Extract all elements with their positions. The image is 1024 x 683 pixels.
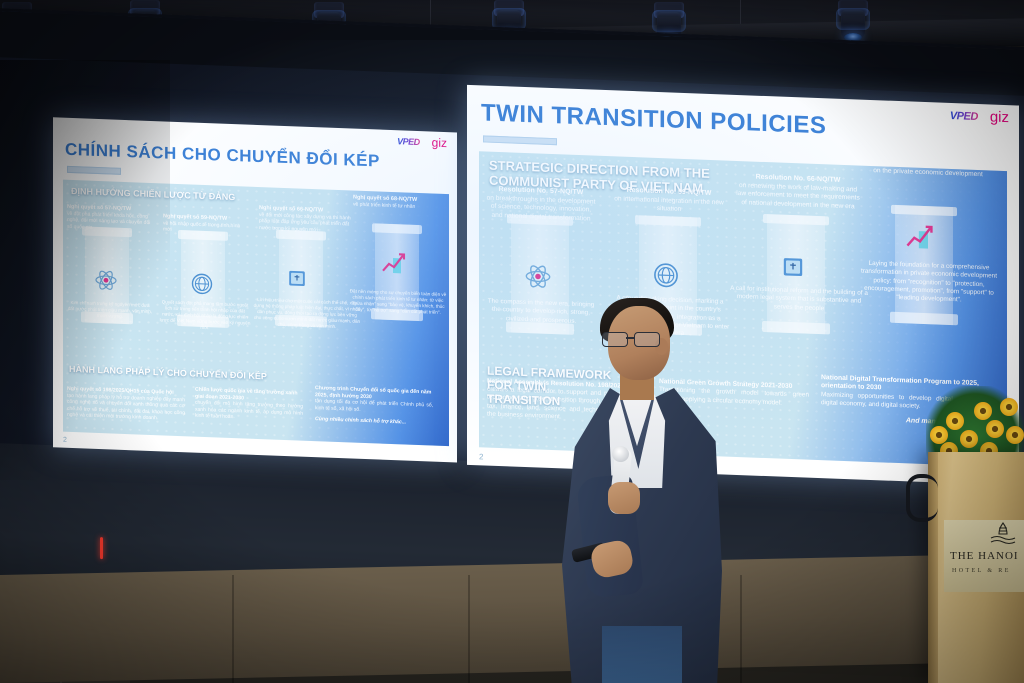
slide-logos-right: VPED giz [950,107,1009,126]
card-subtitle: on renewing the work of law-making and l… [735,182,861,212]
law-book-icon [779,253,807,282]
law-book-icon [285,266,309,291]
card-body: Lời hiệu triệu cho một cuộc cải cách thể… [253,297,361,331]
policy-card: Resolution No. 59-NQ/TW on international… [613,186,725,216]
atom-icon [93,267,119,294]
policy-card-body: Kim chỉ nam trong kỷ nguyên mới, đưa đất… [67,300,153,321]
card-subtitle: về đột phá phát triển khoa học, công ngh… [67,211,153,234]
flower-bloom [960,430,978,448]
flower-bloom [1000,398,1018,416]
card-body: tạo hành lang pháp lý hỗ trợ doanh nghiệ… [67,392,185,422]
page-number-right: 2 [479,452,483,461]
card-body: Đặt nền móng cho sự chuyển biến toàn diệ… [349,288,447,316]
venue-sign: THE HANOI HOTEL & RE [944,520,1024,592]
conference-photo-scene: VPED giz CHÍNH SÁCH CHO CHUYỂN ĐỔI KÉP Đ… [0,0,1024,683]
giz-logo: giz [432,136,447,151]
eyeglasses [602,332,658,345]
policy-card: Resolution No. 57-NQ/TW on breakthroughs… [485,186,597,225]
growth-chart-icon [379,248,409,279]
flower-bloom [986,420,1004,438]
growth-chart-icon [903,219,937,254]
vped-logo: VPED [950,109,978,122]
title-underline-right [483,135,557,145]
venue-brand: THE HANOI [950,550,1019,562]
flower-bloom [946,412,964,430]
wall-seam [232,575,234,683]
hotel-crest-icon [988,522,1018,548]
flower-arrangement [926,386,1024,460]
flower-bloom [1006,426,1024,444]
card-subtitle: on breakthroughs in the development of s… [485,194,597,224]
card-body: Kim chỉ nam trong kỷ nguyên mới, đưa đất… [67,300,153,321]
policy-card: Resolution No. 66-NQ/TW on renewing the … [735,173,861,212]
podium-handle [906,474,938,522]
wall-seam [740,575,742,683]
vped-logo: VPED [397,136,420,147]
slide-logos-left: VPED giz [397,134,447,150]
presenter [556,296,728,683]
policy-card-body: Đặt nền móng cho sự chuyển biến toàn diệ… [349,288,447,316]
title-underline-left [67,166,121,175]
legal-card: Chương trình Chuyển đổi số quốc gia đến … [315,385,433,427]
atom-icon [523,261,553,292]
slide-title-right: TWIN TRANSITION POLICIES [481,99,826,140]
card-subtitle: về đổi mới công tác xây dựng và thi hành… [259,212,355,235]
globe-emblem-icon [189,270,215,297]
giz-logo: giz [990,108,1009,126]
policy-card-body: Laying the foundation for a comprehensiv… [859,260,999,307]
card-body: chuyển đổi mô hình tăng trưởng theo hướn… [195,400,303,424]
lower-wall [0,554,1024,683]
policy-card-body: Quyết sách đột phá mang tầm bước ngoặt l… [159,299,251,332]
page-number-left: 2 [63,437,67,444]
policy-card: Nghị quyết số 66-NQ/TW về đổi mới công t… [259,205,355,235]
venue-subtitle: HOTEL & RE [952,568,1011,574]
policy-card: Nghị quyết số 59-NQ/TW về hội nhập quốc … [163,213,249,236]
slide-vietnamese: VPED giz CHÍNH SÁCH CHO CHUYỂN ĐỔI KÉP Đ… [53,117,457,462]
card-body: Laying the foundation for a comprehensiv… [859,260,999,307]
policy-card-body: Lời hiệu triệu cho một cuộc cải cách thể… [253,297,361,331]
wall-seam [468,575,470,683]
hand-holding-microphone [608,482,640,514]
legal-card: Chiến lược quốc gia về tăng trưởng xanh … [195,387,303,424]
led-status-light [100,537,103,559]
legal-card: Nghị quyết số 198/2025/QH15 của Quốc hội… [67,386,185,423]
trousers [602,626,682,683]
globe-emblem-icon [651,260,681,291]
card-body: A call for institutional reform and the … [729,285,869,315]
flower-bloom [930,426,948,444]
card-body: Quyết sách đột phá mang tầm bước ngoặt l… [159,299,251,332]
flower-bloom [974,402,992,420]
policy-card: Nghị quyết số 57-NQ/TW về đột phá phát t… [67,204,153,234]
policy-card-body: A call for institutional reform and the … [729,285,869,315]
